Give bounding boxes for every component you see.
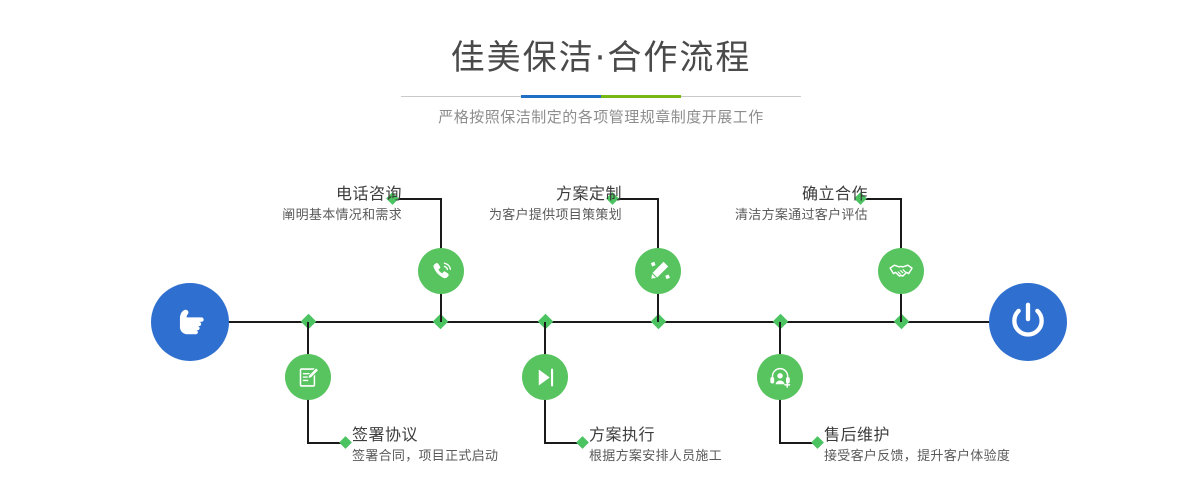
pencil-ruler-icon <box>645 258 672 285</box>
step-2-icon-bubble[interactable] <box>285 354 331 400</box>
step-5-title: 确立合作 <box>578 183 868 205</box>
timeline-start-endpoint[interactable] <box>151 283 229 361</box>
step-3-icon-bubble[interactable] <box>635 248 681 294</box>
pointing-hand-icon <box>167 299 213 345</box>
step-6-label: 售后维护 接受客户反馈，提升客户体验度 <box>824 424 1184 468</box>
step-2-label-diamond <box>339 436 352 449</box>
page-title: 佳美保洁·合作流程 <box>0 36 1202 80</box>
phone-call-icon <box>428 258 455 285</box>
step-5-subtitle: 清洁方案通过客户评估 <box>578 205 868 227</box>
divider-segment-green <box>601 95 681 98</box>
step-5-label: 确立合作 清洁方案通过客户评估 <box>578 183 868 227</box>
step-1-icon-bubble[interactable] <box>418 248 464 294</box>
divider-line-right <box>681 96 801 97</box>
step-4-icon-bubble[interactable] <box>522 354 568 400</box>
process-timeline: 电话咨询 阐明基本情况和需求 签署协议 签署合同，项目正式启动 <box>0 150 1202 502</box>
timeline-axis <box>152 321 1050 323</box>
step-6-icon-bubble[interactable] <box>757 354 803 400</box>
handshake-icon <box>888 258 915 285</box>
step-6-subtitle: 接受客户反馈，提升客户体验度 <box>824 446 1184 468</box>
page-subtitle: 严格按照保洁制定的各项管理规章制度开展工作 <box>0 104 1202 130</box>
play-execute-icon <box>532 364 559 391</box>
divider-line-left <box>401 96 521 97</box>
power-icon <box>1005 299 1051 345</box>
step-5-icon-bubble[interactable] <box>878 248 924 294</box>
divider-segment-blue <box>521 95 601 98</box>
page-header: 佳美保洁·合作流程 严格按照保洁制定的各项管理规章制度开展工作 <box>0 0 1202 150</box>
document-edit-icon <box>295 364 322 391</box>
step-6-title: 售后维护 <box>824 424 1184 446</box>
headset-support-icon <box>767 364 794 391</box>
title-divider <box>401 94 801 98</box>
timeline-end-endpoint[interactable] <box>989 283 1067 361</box>
